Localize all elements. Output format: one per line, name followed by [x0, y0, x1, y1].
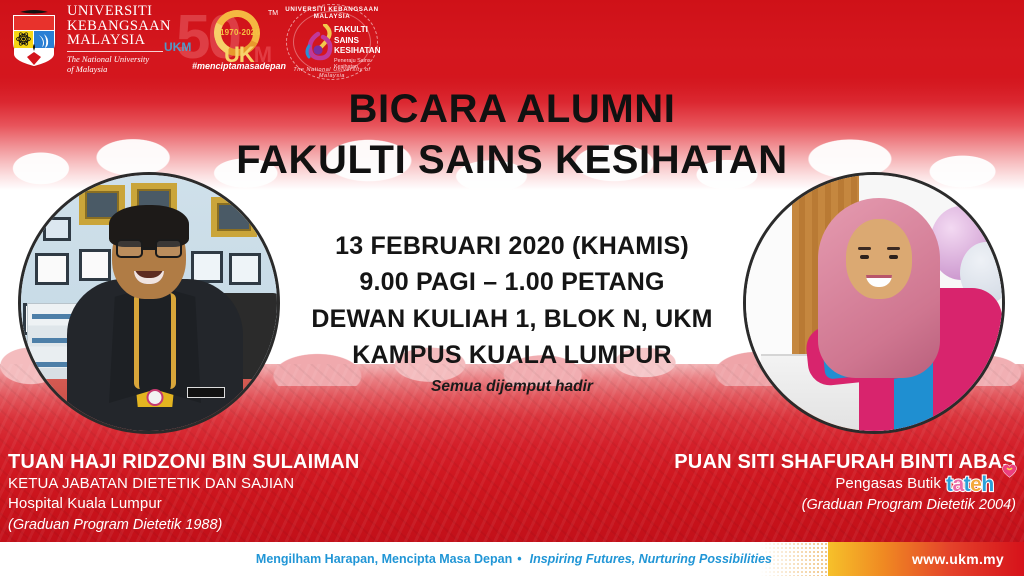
event-time: 9.00 PAGI – 1.00 PETANG: [262, 264, 762, 300]
footer-tagline: Mengilham Harapan, Mencipta Masa Depan •…: [0, 542, 790, 576]
ukm-line-1: UNIVERSITI: [67, 4, 171, 19]
tateh-letter-4: e: [970, 473, 981, 496]
poster-canvas: UNIVERSITI KEBANGSAAN MALAYSIA The Natio…: [0, 0, 1024, 576]
speaker-right-role: Pengasas Butik: [835, 474, 941, 494]
speaker-right-name: PUAN SITI SHAFURAH BINTI ABAS: [546, 450, 1016, 474]
speaker-right-graduation: (Graduan Program Dietetik 2004): [546, 495, 1016, 515]
speaker-right-info: PUAN SITI SHAFURAH BINTI ABAS Pengasas B…: [546, 450, 1016, 515]
speaker-left-organisation: Hospital Kuala Lumpur: [8, 494, 478, 514]
event-campus: KAMPUS KUALA LUMPUR: [262, 337, 762, 373]
footer-bar: Mengilham Harapan, Mencipta Masa Depan •…: [0, 542, 1024, 576]
ukm-subtitle-1: The National University: [67, 54, 171, 64]
faculty-name-3: KESIHATAN: [334, 46, 381, 55]
tateh-brand-logo: tateh: [946, 474, 1016, 495]
photo-speaker-right: [743, 172, 1005, 434]
footer-website-url[interactable]: www.ukm.my: [912, 542, 1004, 576]
anniversary-tm: TM: [268, 10, 278, 17]
faculty-wordmark: FAKULTI SAINS KESIHATAN Peneraju Sains K…: [334, 25, 381, 71]
anniversary-jawi: UKM: [164, 40, 191, 54]
ukm-line-3: MALAYSIA: [67, 33, 171, 48]
faculty-arc-top: UNIVERSITI KEBANGSAAN MALAYSIA: [284, 6, 380, 20]
speaker-left-info: TUAN HAJI RIDZONI BIN SULAIMAN KETUA JAB…: [8, 450, 478, 535]
tateh-letter-5: h: [981, 473, 993, 496]
ukm-divider: [67, 51, 163, 52]
footer-separator: •: [517, 552, 521, 566]
speaker-left-name: TUAN HAJI RIDZONI BIN SULAIMAN: [8, 450, 478, 474]
anniversary-years: 1970-2020: [220, 28, 260, 37]
ukm-subtitle-2: of Malaysia: [67, 64, 171, 74]
logo-row: UNIVERSITI KEBANGSAAN MALAYSIA The Natio…: [0, 0, 1024, 84]
faculty-tagline: Peneraju Sains Kesihatan: [334, 58, 381, 72]
ukm-crest-icon: [8, 8, 60, 70]
heart-icon: [1001, 460, 1018, 483]
photo-speaker-left: [18, 172, 280, 434]
event-date: 13 FEBRUARI 2020 (KHAMIS): [262, 228, 762, 264]
tateh-letter-2: a: [952, 473, 963, 496]
ukm-line-2: KEBANGSAAN: [67, 19, 171, 34]
speaker-left-graduation: (Graduan Program Dietetik 1988): [8, 515, 478, 535]
speaker-right-role-row: Pengasas Butik tateh: [546, 474, 1016, 495]
invitation-note: Semua dijemput hadir: [262, 378, 762, 396]
footer-tagline-english: Inspiring Futures, Nurturing Possibiliti…: [530, 552, 772, 566]
anniversary-hashtag: #menciptamasadepan: [192, 61, 286, 71]
anniversary-logo: 50 1970-2020 UKM UKM TM #menciptamasadep…: [168, 6, 286, 70]
event-details: 13 FEBRUARI 2020 (KHAMIS) 9.00 PAGI – 1.…: [262, 228, 762, 373]
speaker-left-role: KETUA JABATAN DIETETIK DAN SAJIAN: [8, 474, 478, 494]
event-venue: DEWAN KULIAH 1, BLOK N, UKM: [262, 301, 762, 337]
ukm-logo: UNIVERSITI KEBANGSAAN MALAYSIA The Natio…: [8, 4, 171, 74]
faculty-name-1: FAKULTI: [334, 25, 368, 34]
footer-tagline-malay: Mengilham Harapan, Mencipta Masa Depan: [256, 552, 512, 566]
title-line-1: BICARA ALUMNI: [0, 84, 1024, 135]
ukm-wordmark: UNIVERSITI KEBANGSAAN MALAYSIA The Natio…: [67, 4, 171, 74]
fsk-swoosh-icon: [304, 24, 334, 62]
faculty-name-2: SAINS: [334, 36, 359, 45]
poster-title: BICARA ALUMNI FAKULTI SAINS KESIHATAN: [0, 84, 1024, 186]
faculty-logo: UNIVERSITI KEBANGSAAN MALAYSIA The Natio…: [284, 2, 380, 82]
